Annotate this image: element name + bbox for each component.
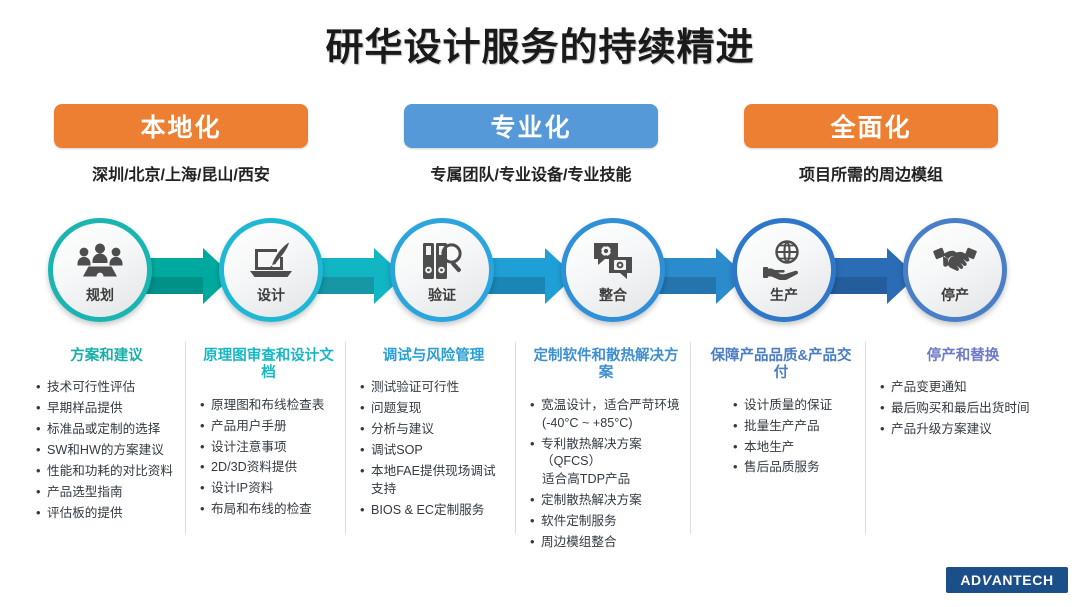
list-item: 2D/3D资料提供	[200, 459, 337, 477]
list-item: BIOS & EC定制服务	[360, 502, 507, 520]
list-item: 分析与建议	[360, 421, 507, 439]
list-item: 调试SOP	[360, 442, 507, 460]
process-node-生产[interactable]: 生产	[732, 218, 836, 322]
column-heading: 原理图审查和设计文档	[200, 348, 337, 383]
process-node-规划[interactable]: 规划	[48, 218, 152, 322]
node-caption: 整合	[561, 285, 665, 305]
node-caption: 生产	[732, 285, 836, 305]
column-heading: 方案和建议	[36, 348, 177, 365]
advantech-logo: ADVANTECH	[946, 567, 1068, 593]
list-item: 设计IP资料	[200, 480, 337, 498]
column-heading: 保障产品品质&产品交付	[705, 348, 857, 383]
column-item-list: 原理图和布线检查表产品用户手册设计注意事项2D/3D资料提供设计IP资料布局和布…	[200, 397, 337, 519]
list-item: 产品变更通知	[880, 379, 1046, 397]
list-item: 本地生产	[733, 439, 857, 457]
list-item: 周边模组整合	[530, 534, 682, 552]
list-item: 早期样品提供	[36, 400, 177, 418]
detail-column-1: 方案和建议技术可行性评估早期样品提供标准品或定制的选择SW和HW的方案建议性能和…	[28, 342, 185, 534]
detail-columns: 方案和建议技术可行性评估早期样品提供标准品或定制的选择SW和HW的方案建议性能和…	[28, 342, 1054, 534]
chat-gears-icon	[561, 238, 665, 282]
column-item-list: 设计质量的保证批量生产产品本地生产售后品质服务	[705, 397, 857, 478]
pillar-chip-label: 本地化	[54, 104, 308, 148]
globe-hand-icon	[732, 238, 836, 282]
node-caption: 设计	[219, 285, 323, 305]
process-node-整合[interactable]: 整合	[561, 218, 665, 322]
list-item: 性能和功耗的对比资料	[36, 463, 177, 481]
pillar-localization: 本地化 深圳/北京/上海/昆山/西安	[54, 104, 308, 185]
list-item: 批量生产产品	[733, 418, 857, 436]
column-item-list: 测试验证可行性问题复现分析与建议调试SOP本地FAE提供现场调试支持BIOS &…	[360, 379, 507, 519]
logo-text: ADVANTECH	[960, 572, 1053, 588]
list-item: 设计质量的保证	[733, 397, 857, 415]
column-heading: 定制软件和散热解决方案	[530, 348, 682, 383]
list-item: 产品选型指南	[36, 484, 177, 502]
list-item: 定制散热解决方案	[530, 492, 682, 510]
list-item-continuation: (-40°C ~ +85°C)	[541, 415, 682, 433]
column-item-list: 技术可行性评估早期样品提供标准品或定制的选择SW和HW的方案建议性能和功耗的对比…	[36, 379, 177, 522]
column-heading: 停产和替换	[880, 348, 1046, 365]
list-item: 布局和布线的检查	[200, 501, 337, 519]
column-item-list: 宽温设计，适合严苛环境(-40°C ~ +85°C)专利散热解决方案（QFCS）…	[530, 397, 682, 552]
pillar-subtitle: 深圳/北京/上海/昆山/西安	[54, 161, 308, 185]
detail-column-3: 调试与风险管理测试验证可行性问题复现分析与建议调试SOP本地FAE提供现场调试支…	[345, 342, 515, 534]
list-item: 产品升级方案建议	[880, 421, 1046, 439]
list-item: 专利散热解决方案（QFCS）适合高TDP产品	[530, 436, 682, 490]
list-item: 原理图和布线检查表	[200, 397, 337, 415]
node-caption: 停产	[903, 285, 1007, 305]
folders-magnifier-icon	[390, 238, 494, 282]
pillar-subtitle: 专属团队/专业设备/专业技能	[404, 161, 658, 185]
pillar-chip-label: 专业化	[404, 104, 658, 148]
list-item: 技术可行性评估	[36, 379, 177, 397]
list-item: 设计注意事项	[200, 439, 337, 457]
column-item-list: 产品变更通知最后购买和最后出货时间产品升级方案建议	[880, 379, 1046, 439]
list-item: 售后品质服务	[733, 459, 857, 477]
pen-laptop-icon	[219, 238, 323, 282]
process-node-验证[interactable]: 验证	[390, 218, 494, 322]
detail-column-2: 原理图审查和设计文档原理图和布线检查表产品用户手册设计注意事项2D/3D资料提供…	[185, 342, 345, 534]
list-item: 产品用户手册	[200, 418, 337, 436]
slide-root: 研华设计服务的持续精进 本地化 深圳/北京/上海/昆山/西安 专业化 专属团队/…	[0, 0, 1080, 607]
handshake-icon	[903, 238, 1007, 282]
list-item: 软件定制服务	[530, 513, 682, 531]
pillar-subtitle: 项目所需的周边模组	[744, 161, 998, 185]
column-heading: 调试与风险管理	[360, 348, 507, 365]
page-title: 研华设计服务的持续精进	[0, 16, 1080, 71]
detail-column-5: 保障产品品质&产品交付设计质量的保证批量生产产品本地生产售后品质服务	[690, 342, 865, 534]
pillar-header-group: 本地化 深圳/北京/上海/昆山/西安 专业化 专属团队/专业设备/专业技能 全面…	[0, 104, 1080, 194]
node-caption: 验证	[390, 285, 494, 305]
process-node-停产[interactable]: 停产	[903, 218, 1007, 322]
process-flow-band: 规划 设计 验证 整合 生产 停产	[0, 218, 1080, 336]
list-item: 最后购买和最后出货时间	[880, 400, 1046, 418]
list-item: SW和HW的方案建议	[36, 442, 177, 460]
list-item-continuation: 适合高TDP产品	[541, 471, 682, 489]
pillar-chip-label: 全面化	[744, 104, 998, 148]
list-item: 问题复现	[360, 400, 507, 418]
list-item: 评估板的提供	[36, 505, 177, 523]
process-node-设计[interactable]: 设计	[219, 218, 323, 322]
detail-column-4: 定制软件和散热解决方案宽温设计，适合严苛环境(-40°C ~ +85°C)专利散…	[515, 342, 690, 534]
pillar-comprehensive: 全面化 项目所需的周边模组	[744, 104, 998, 185]
detail-column-6: 停产和替换产品变更通知最后购买和最后出货时间产品升级方案建议	[865, 342, 1054, 534]
list-item: 宽温设计，适合严苛环境(-40°C ~ +85°C)	[530, 397, 682, 433]
list-item: 本地FAE提供现场调试支持	[360, 463, 507, 499]
list-item: 标准品或定制的选择	[36, 421, 177, 439]
node-caption: 规划	[48, 285, 152, 305]
meeting-icon	[48, 238, 152, 282]
list-item: 测试验证可行性	[360, 379, 507, 397]
pillar-professional: 专业化 专属团队/专业设备/专业技能	[404, 104, 658, 185]
